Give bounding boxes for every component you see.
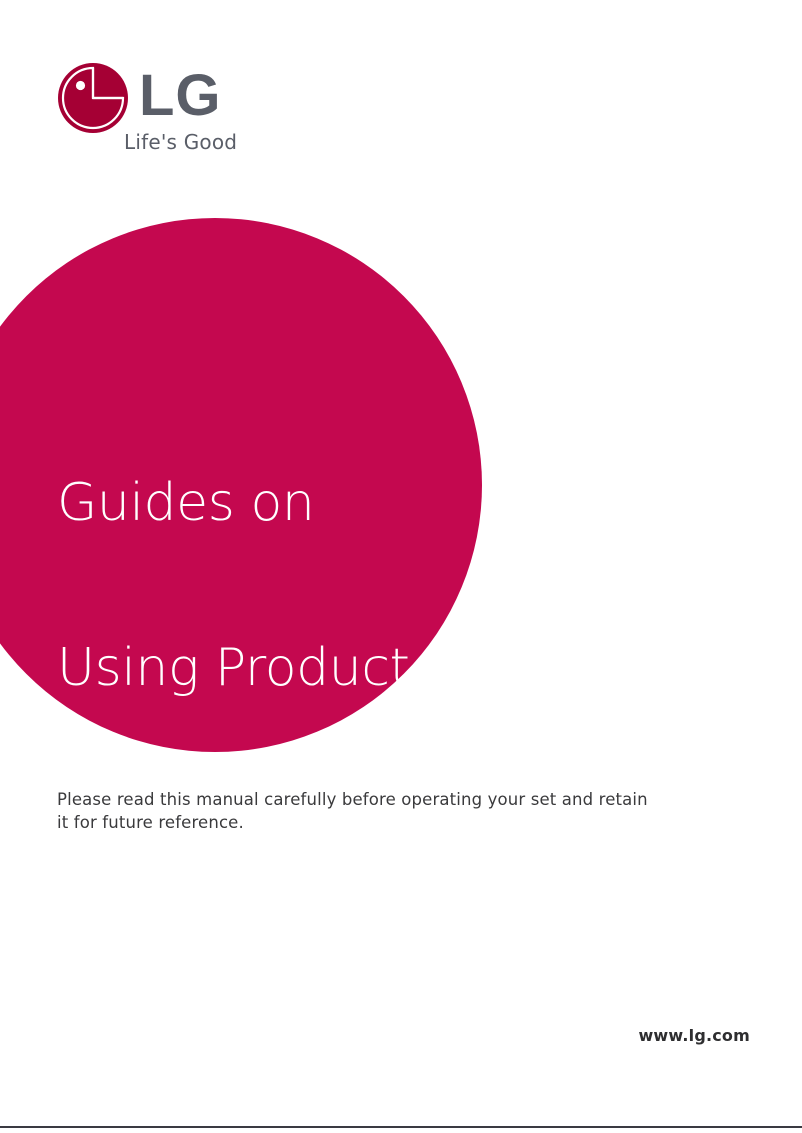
page-title-line-4: (Windows, Mac) — [57, 971, 577, 1026]
note-line-1: Please read this manual carefully before… — [57, 788, 747, 811]
bottom-divider — [0, 1126, 802, 1128]
lg-tagline: Life's Good — [124, 130, 237, 154]
website-url[interactable]: www.lg.com — [638, 1026, 750, 1045]
lg-logo-mark-icon — [57, 62, 129, 134]
manual-instruction-note: Please read this manual carefully before… — [57, 788, 747, 834]
manual-cover-page: LG Life's Good Guides on Using Product F… — [0, 0, 802, 1133]
page-title-line-1: Guides on — [57, 476, 577, 531]
lg-brand-logo: LG Life's Good — [57, 62, 287, 162]
page-title-line-2: Using Product — [57, 641, 577, 696]
page-title: Guides on Using Product Functions (Windo… — [57, 366, 577, 1133]
lg-wordmark: LG — [139, 67, 222, 125]
note-line-2: it for future reference. — [57, 811, 747, 834]
